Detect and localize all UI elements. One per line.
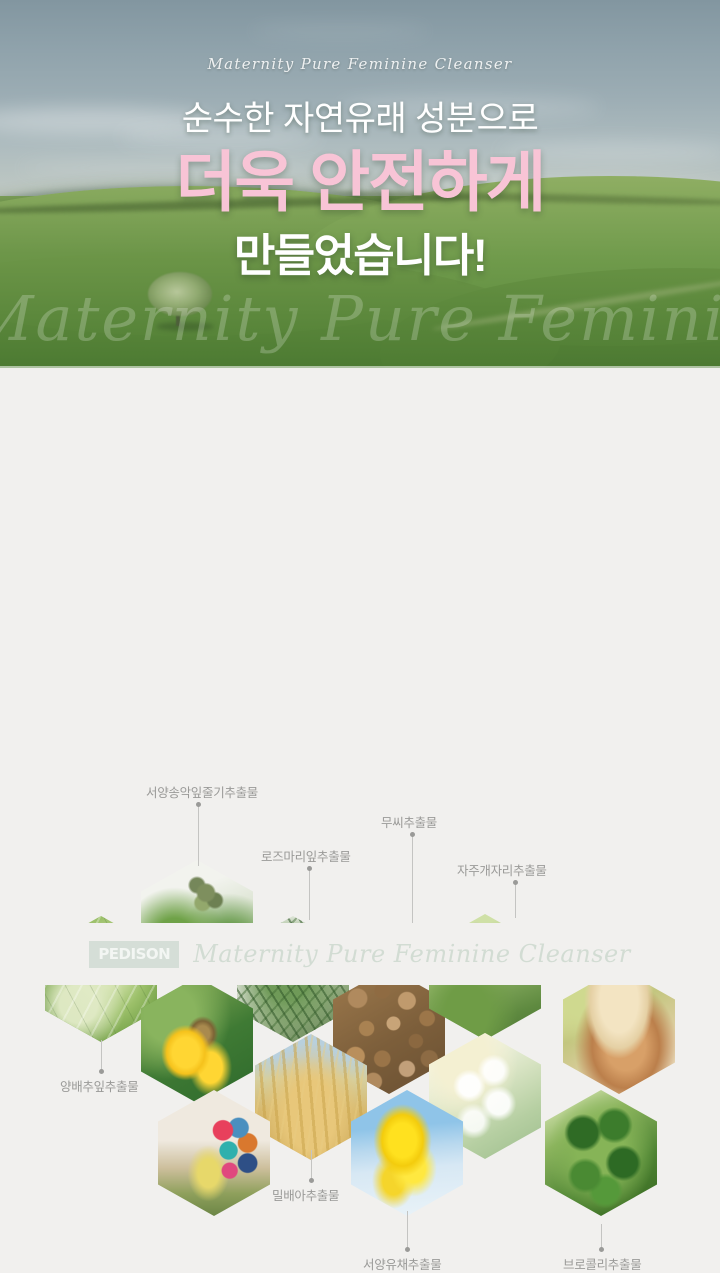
girl-in-straw-hat-photo [563, 968, 675, 1094]
footer-tagline: Maternity Pure Feminine Cleanser [193, 940, 630, 968]
hero-headline-secondary: 만들었습니다! [0, 219, 720, 284]
hex-tile-girl-hat[interactable] [563, 968, 675, 1094]
leader-line-cabbage [101, 1040, 102, 1072]
ingredient-label-alfalfa: 자주개자리추출물 [457, 860, 547, 879]
ingredient-label-cabbage: 양배추잎추출물 [60, 1076, 138, 1095]
leader-line-wheat-germ [311, 1150, 312, 1181]
hero-headline-primary: 더욱 안전하게 [0, 148, 720, 217]
ingredient-label-rosemary: 로즈마리잎추출물 [261, 846, 351, 865]
ingredient-label-wheat-germ: 밀배아추출물 [272, 1185, 339, 1204]
leader-line-rapeseed [407, 1211, 408, 1250]
hex-tile-butterfly[interactable] [141, 977, 253, 1103]
hex-tile-broccoli[interactable] [545, 1090, 657, 1216]
ingredient-label-broccoli: 브로콜리추출물 [563, 1254, 641, 1273]
leader-line-alfalfa [515, 882, 516, 918]
ingredient-label-ivy: 서양송악잎줄기추출물 [146, 782, 258, 801]
hero-eyebrow: Maternity Pure Feminine Cleanser [0, 55, 720, 73]
butterfly-on-yellow-flower-photo [141, 977, 253, 1103]
footer-brand-bar: PEDISON Maternity Pure Feminine Cleanser [0, 923, 720, 985]
hero-subheadline: 순수한 자연유래 성분으로 [0, 91, 720, 140]
hero-banner: Maternity Pure Feminine Cleanser Materni… [0, 0, 720, 368]
hex-tile-balloons[interactable] [158, 1090, 270, 1216]
hero-text-block: Maternity Pure Feminine Cleanser 순수한 자연유… [0, 0, 720, 368]
leader-line-ivy [198, 804, 199, 866]
ingredient-label-radish-seed: 무씨추출물 [381, 812, 437, 831]
ingredient-label-rapeseed: 서양유채추출물 [363, 1254, 441, 1273]
girl-with-balloons-photo [158, 1090, 270, 1216]
leader-line-broccoli [601, 1224, 602, 1250]
leader-line-rosemary [309, 868, 310, 920]
broccoli-florets-photo [545, 1090, 657, 1216]
ingredients-section: 서양송악잎줄기추출물 로즈마리잎추출물 무씨추출물 자주개자리추출물 양배추잎추… [0, 368, 720, 985]
pedison-logo: PEDISON [89, 941, 179, 968]
